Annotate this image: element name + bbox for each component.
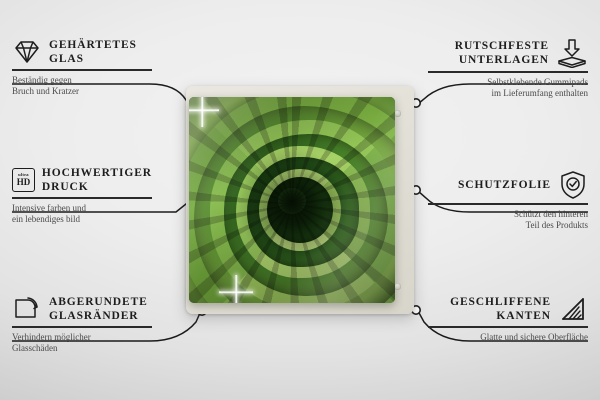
feature-title: KANTEN bbox=[450, 309, 551, 323]
feature-tempered-glass: GEHÄRTETES GLAS Beständig gegen Bruch un… bbox=[12, 38, 152, 98]
feature-subtitle: im Lieferumfang enthalten bbox=[428, 88, 588, 100]
feature-subtitle: Beständig gegen bbox=[12, 75, 152, 87]
feature-subtitle: Verhindern möglicher bbox=[12, 332, 152, 344]
badge-large-text: HD bbox=[17, 178, 31, 187]
feature-rounded-edges: ABGERUNDETE GLASRÄNDER Verhindern möglic… bbox=[12, 295, 152, 355]
feature-subtitle: Selbstklebende Gummipads bbox=[428, 77, 588, 89]
feature-protective-film: SCHUTZFOLIE Schützt den hinteren Teil de… bbox=[428, 170, 588, 232]
divider bbox=[12, 69, 152, 71]
feature-title: GESCHLIFFENE bbox=[450, 295, 551, 309]
divider bbox=[428, 326, 588, 328]
feature-subtitle: Glatte und sichere Oberfläche bbox=[428, 332, 588, 344]
feature-title: ABGERUNDETE bbox=[49, 295, 148, 309]
feature-title: GLASRÄNDER bbox=[49, 309, 148, 323]
divider bbox=[428, 203, 588, 205]
feature-subtitle: Intensive farben und bbox=[12, 203, 152, 215]
feature-title: UNTERLAGEN bbox=[455, 53, 549, 67]
product-infographic: GEHÄRTETES GLAS Beständig gegen Bruch un… bbox=[0, 0, 600, 400]
glass-board-front bbox=[189, 97, 395, 303]
rounded-corner-icon bbox=[12, 296, 42, 322]
feature-polished-edges: GESCHLIFFENE KANTEN Glatte und sichere O… bbox=[428, 295, 588, 343]
divider bbox=[428, 71, 588, 73]
feature-subtitle: ein lebendiges bild bbox=[12, 214, 152, 226]
shield-check-icon bbox=[558, 170, 588, 200]
feature-subtitle: Bruch und Kratzer bbox=[12, 86, 152, 98]
feature-title: GLAS bbox=[49, 52, 137, 66]
feature-title: RUTSCHFESTE bbox=[455, 39, 549, 53]
rubber-foot-bottom-right bbox=[394, 283, 401, 290]
feature-subtitle: Glasschäden bbox=[12, 343, 152, 355]
feature-antislip-pads: RUTSCHFESTE UNTERLAGEN Selbstklebende Gu… bbox=[428, 38, 588, 100]
feature-hd-print: ultra HD HOCHWERTIGER DRUCK Intensive fa… bbox=[12, 166, 152, 226]
feature-title: HOCHWERTIGER bbox=[42, 166, 152, 180]
divider bbox=[12, 326, 152, 328]
rubber-foot-top-right bbox=[394, 110, 401, 117]
feature-title: SCHUTZFOLIE bbox=[458, 178, 551, 192]
polished-edge-icon bbox=[558, 295, 588, 323]
glass-reflection bbox=[189, 97, 395, 303]
divider bbox=[12, 197, 152, 199]
diamond-icon bbox=[12, 39, 42, 65]
ultra-hd-badge-icon: ultra HD bbox=[12, 168, 35, 192]
anti-slip-pad-icon bbox=[556, 38, 588, 68]
feature-title: DRUCK bbox=[42, 180, 152, 194]
feature-title: GEHÄRTETES bbox=[49, 38, 137, 52]
product-mockup bbox=[186, 86, 414, 314]
feature-subtitle: Schützt den hinteren bbox=[428, 209, 588, 221]
feature-subtitle: Teil des Produkts bbox=[428, 220, 588, 232]
